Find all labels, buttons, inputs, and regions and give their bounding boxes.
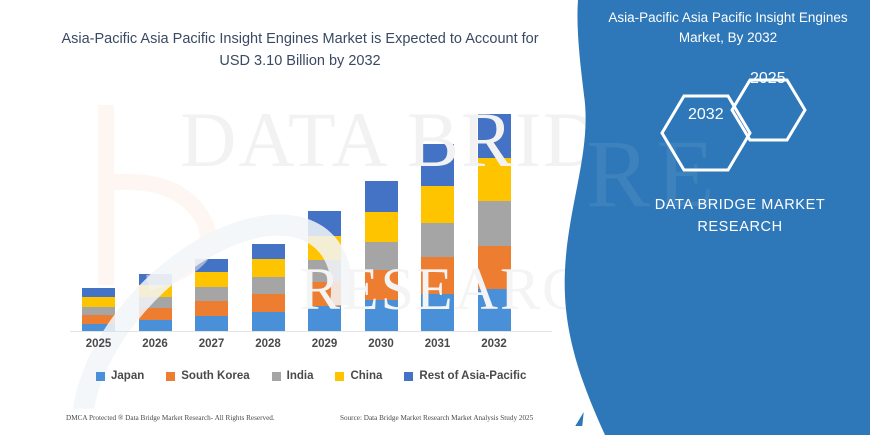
hexagon-group: 2032 2025 — [640, 78, 870, 188]
panel-title: Asia-Pacific Asia Pacific Insight Engine… — [608, 8, 848, 49]
brand-line-2: RESEARCH — [697, 219, 782, 235]
hexagon-2032-label: 2032 — [688, 106, 724, 124]
hexagon-2025-label: 2025 — [750, 70, 786, 88]
brand-name: DATA BRIDGE MARKET RESEARCH — [620, 194, 860, 239]
brand-panel-content: RE Asia-Pacific Asia Pacific Insight Eng… — [0, 0, 870, 435]
infographic-canvas: DATA BRIDGE RESEARCH Asia-Pacific Asia P… — [0, 0, 870, 435]
hexagon-2025-shape — [732, 80, 805, 140]
brand-line-1: DATA BRIDGE MARKET — [655, 197, 826, 213]
